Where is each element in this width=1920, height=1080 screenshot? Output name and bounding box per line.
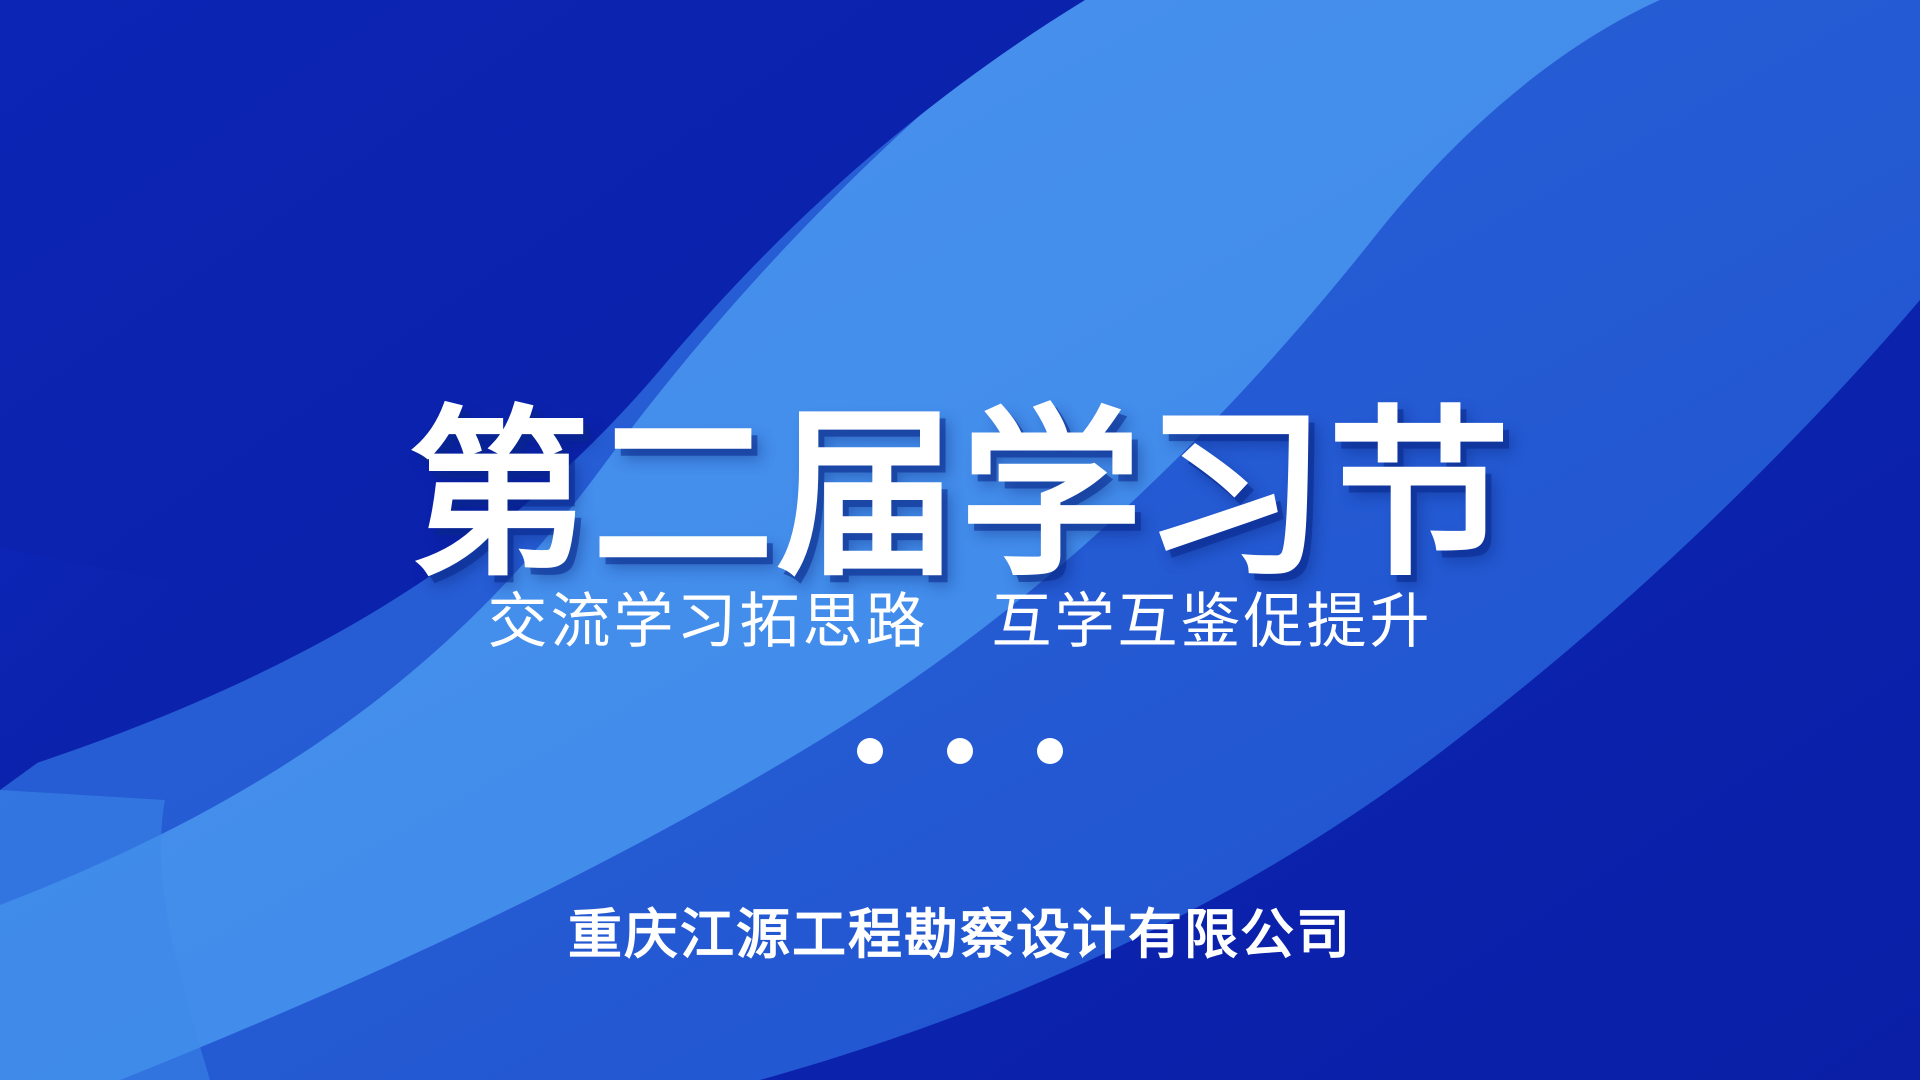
company-name: 重庆江源工程勘察设计有限公司 bbox=[0, 908, 1920, 962]
page-subtitle: 交流学习拓思路 互学互鉴促提升 bbox=[0, 592, 1920, 652]
divider-dots bbox=[0, 738, 1920, 764]
dot-icon-2 bbox=[947, 738, 973, 764]
dot-icon-1 bbox=[857, 738, 883, 764]
poster-canvas: 第二届学习节 交流学习拓思路 互学互鉴促提升 重庆江源工程勘察设计有限公司 bbox=[0, 0, 1920, 1080]
dot-icon-3 bbox=[1037, 738, 1063, 764]
page-title: 第二届学习节 bbox=[0, 404, 1920, 586]
poster-content: 第二届学习节 交流学习拓思路 互学互鉴促提升 重庆江源工程勘察设计有限公司 bbox=[0, 0, 1920, 1080]
